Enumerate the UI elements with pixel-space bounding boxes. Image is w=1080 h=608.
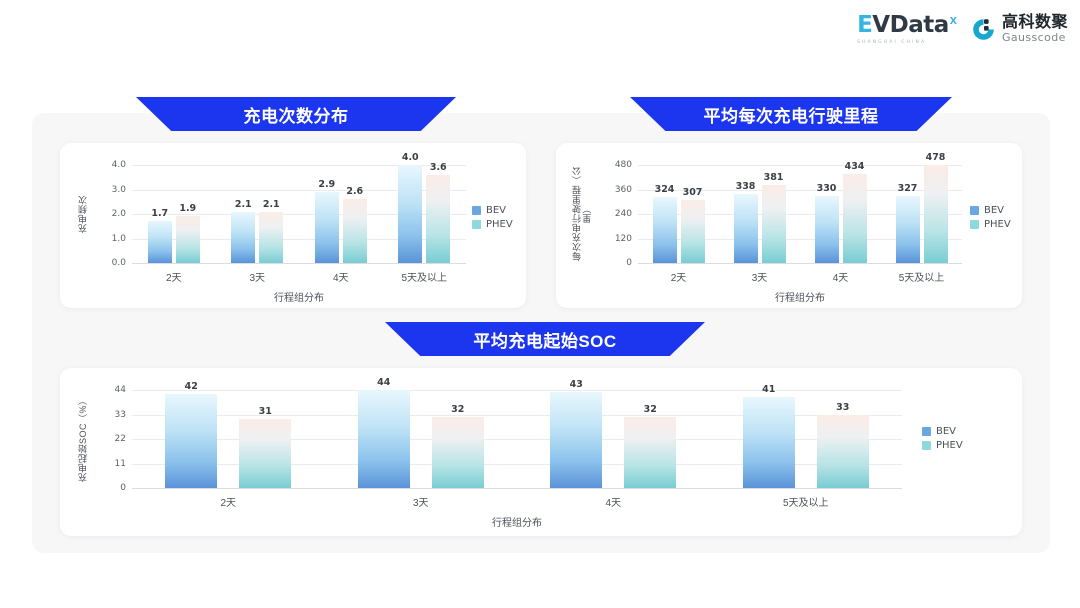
legend-item-bev[interactable]: BEV [922, 426, 963, 437]
bar-bev [734, 194, 758, 263]
chart-legend[interactable]: BEVPHEV [922, 426, 963, 451]
bar-value-label: 32 [451, 404, 464, 415]
y-axis-tick: 2.0 [112, 209, 126, 219]
bar-bev [358, 390, 410, 488]
x-axis-category: 2天 [220, 494, 236, 509]
x-axis-line [132, 488, 902, 489]
bar-value-label: 1.9 [179, 203, 196, 214]
x-axis-label: 行程组分布 [492, 514, 542, 529]
x-axis-category: 4天 [833, 269, 849, 284]
bar-phev [176, 216, 200, 263]
y-axis-tick: 33 [115, 410, 126, 420]
chart-title-banner-3: 平均充电起始SOC [385, 322, 705, 356]
bar-bev [398, 165, 422, 263]
bar-value-label: 44 [377, 377, 390, 388]
x-axis-category: 4天 [333, 269, 349, 284]
y-axis-label: 每次充电行驶里程（公里） [572, 165, 593, 263]
legend-swatch-phev [970, 220, 979, 229]
x-axis-category: 5天及以上 [401, 269, 447, 284]
x-axis-category: 2天 [671, 269, 687, 284]
x-axis-category: 3天 [752, 269, 768, 284]
legend-label: BEV [984, 205, 1004, 216]
chart-card-avg-start-soc: 充电起始SOC（%）01122334442312天44323天43324天413… [60, 368, 1022, 536]
bar-phev [843, 174, 867, 263]
y-axis-tick: 22 [115, 434, 126, 444]
legend-swatch-bev [970, 206, 979, 215]
legend-label: PHEV [936, 440, 963, 451]
chart-legend[interactable]: BEVPHEV [970, 205, 1011, 230]
bar-phev [681, 200, 705, 263]
bar-value-label: 43 [570, 379, 583, 390]
bar-phev [762, 185, 786, 263]
bar-bev [315, 192, 339, 263]
bar-phev [624, 417, 676, 488]
bar-value-label: 434 [845, 161, 865, 172]
legend-swatch-bev [922, 427, 931, 436]
legend-swatch-phev [472, 220, 481, 229]
x-axis-line [132, 263, 466, 264]
y-axis-label: 充电起始SOC（%） [78, 390, 88, 488]
legend-swatch-phev [922, 441, 931, 450]
x-axis-line [638, 263, 962, 264]
gausscode-cn: 高科数聚 [1002, 15, 1068, 32]
x-axis-category: 5天及以上 [899, 269, 945, 284]
bar-value-label: 2.6 [346, 186, 363, 197]
x-axis-category: 3天 [249, 269, 265, 284]
bar-value-label: 32 [644, 404, 657, 415]
bar-value-label: 41 [762, 384, 775, 395]
legend-item-phev[interactable]: PHEV [970, 219, 1011, 230]
bar-value-label: 338 [736, 181, 756, 192]
gridline [638, 165, 962, 166]
bar-bev [165, 394, 217, 488]
bar-phev [239, 419, 291, 488]
legend-item-bev[interactable]: BEV [472, 205, 513, 216]
gridline [132, 390, 902, 391]
y-axis-tick: 11 [115, 459, 126, 469]
bar-value-label: 381 [764, 172, 784, 183]
y-axis-label: 充电频次 [78, 165, 88, 263]
chart-title-banner-1: 充电次数分布 [136, 97, 456, 131]
gausscode-logo: 高科数聚 Gausscode [971, 15, 1068, 43]
evdata-letter-data: Data [890, 12, 949, 38]
bar-bev [550, 392, 602, 488]
bar-phev [343, 199, 367, 263]
bar-bev [231, 212, 255, 263]
legend-swatch-bev [472, 206, 481, 215]
legend-item-phev[interactable]: PHEV [472, 219, 513, 230]
bar-value-label: 31 [259, 406, 272, 417]
chart-legend[interactable]: BEVPHEV [472, 205, 513, 230]
x-axis-category: 5天及以上 [783, 494, 829, 509]
legend-label: PHEV [984, 219, 1011, 230]
x-axis-label: 行程组分布 [775, 289, 825, 304]
legend-item-phev[interactable]: PHEV [922, 440, 963, 451]
x-axis-category: 3天 [413, 494, 429, 509]
bar-bev [815, 196, 839, 263]
bar-bev [743, 397, 795, 488]
evdata-x-icon: x [950, 12, 957, 27]
bar-value-label: 33 [836, 402, 849, 413]
evdata-tagline: SHANGHAI CHINA [857, 40, 926, 45]
bar-value-label: 478 [926, 152, 946, 163]
x-axis-category: 4天 [605, 494, 621, 509]
y-axis-tick: 1.0 [112, 234, 126, 244]
legend-label: BEV [936, 426, 956, 437]
y-axis-tick: 480 [615, 160, 632, 170]
chart-avg-start-soc: 充电起始SOC（%）01122334442312天44323天43324天413… [60, 368, 1022, 536]
gausscode-text: 高科数聚 Gausscode [1002, 15, 1068, 43]
bar-bev [653, 197, 677, 263]
bar-bev [896, 196, 920, 263]
y-axis-tick: 360 [615, 185, 632, 195]
bar-value-label: 2.9 [318, 179, 335, 190]
slide-root: EVData x SHANGHAI CHINA 高科数聚 Gausscode 充… [0, 0, 1080, 608]
chart-card-charging-frequency: 充电频次0.01.02.03.04.01.71.92天2.12.13天2.92.… [60, 143, 526, 308]
bar-phev [426, 175, 450, 263]
y-axis-tick: 0.0 [112, 258, 126, 268]
chart-title-2: 平均每次充电行驶里程 [704, 102, 879, 127]
y-axis-tick: 0 [626, 258, 632, 268]
chart-title-3: 平均充电起始SOC [473, 327, 616, 352]
evdata-letter-v: V [872, 12, 889, 38]
evdata-logo: EVData x SHANGHAI CHINA [857, 14, 957, 45]
x-axis-label: 行程组分布 [274, 289, 324, 304]
bar-value-label: 3.6 [430, 162, 447, 173]
bar-value-label: 307 [683, 187, 703, 198]
legend-label: BEV [486, 205, 506, 216]
bar-value-label: 4.0 [402, 152, 419, 163]
bar-bev [148, 221, 172, 263]
y-axis-tick: 0 [120, 483, 126, 493]
evdata-wordmark: EVData x [857, 14, 957, 37]
y-axis-tick: 44 [115, 385, 126, 395]
gausscode-mark-icon [971, 17, 996, 42]
legend-label: PHEV [486, 219, 513, 230]
bar-value-label: 324 [655, 184, 675, 195]
bar-value-label: 2.1 [263, 199, 280, 210]
y-axis-tick: 240 [615, 209, 632, 219]
bar-phev [924, 165, 948, 263]
y-axis-tick: 4.0 [112, 160, 126, 170]
bar-value-label: 330 [817, 183, 837, 194]
chart-title-1: 充电次数分布 [244, 102, 349, 127]
bar-value-label: 2.1 [235, 199, 252, 210]
bar-phev [432, 417, 484, 488]
gausscode-en: Gausscode [1002, 32, 1068, 44]
chart-avg-range-per-charge: 每次充电行驶里程（公里）01202403604803243072天3383813… [556, 143, 1022, 308]
chart-charging-frequency: 充电频次0.01.02.03.04.01.71.92天2.12.13天2.92.… [60, 143, 526, 308]
y-axis-tick: 120 [615, 234, 632, 244]
bar-phev [259, 212, 283, 263]
bar-phev [817, 415, 869, 489]
evdata-text: EVData [857, 14, 949, 37]
chart-title-banner-2: 平均每次充电行驶里程 [630, 97, 952, 131]
evdata-letter-e: E [857, 12, 872, 38]
bar-value-label: 42 [185, 381, 198, 392]
chart-card-avg-range: 每次充电行驶里程（公里）01202403604803243072天3383813… [556, 143, 1022, 308]
legend-item-bev[interactable]: BEV [970, 205, 1011, 216]
bar-value-label: 1.7 [151, 208, 168, 219]
y-axis-tick: 3.0 [112, 185, 126, 195]
x-axis-category: 2天 [166, 269, 182, 284]
header-logos: EVData x SHANGHAI CHINA 高科数聚 Gausscode [857, 14, 1068, 45]
bar-value-label: 327 [898, 183, 918, 194]
